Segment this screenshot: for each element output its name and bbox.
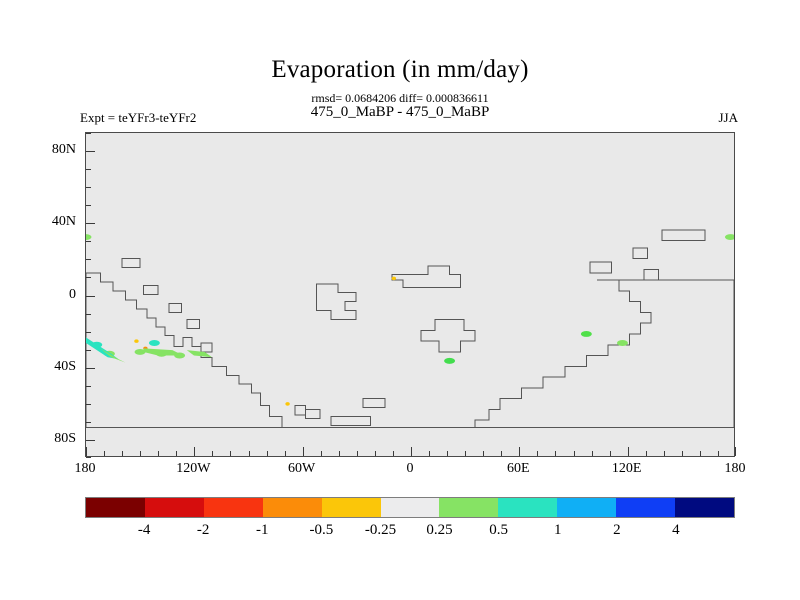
- x-axis-minor-tick: [357, 451, 358, 456]
- y-axis-major-tick: [86, 223, 95, 224]
- colorbar-tick-label: -2: [197, 522, 210, 539]
- y-axis-major-tick: [86, 296, 95, 297]
- x-axis-minor-tick: [249, 451, 250, 456]
- x-axis-major-tick: [519, 447, 520, 456]
- colorbar-segment: [322, 498, 381, 517]
- colorbar-tick-label: -4: [138, 522, 151, 539]
- coastline-outline: [331, 417, 371, 426]
- x-axis-minor-tick: [285, 451, 286, 456]
- x-axis-major-tick: [86, 447, 87, 456]
- y-axis-minor-tick: [86, 386, 91, 387]
- y-axis-major-tick: [86, 368, 95, 369]
- map-plot-area: [85, 132, 735, 457]
- x-axis-minor-tick: [267, 451, 268, 456]
- x-axis-minor-tick: [321, 451, 322, 456]
- y-axis-major-tick: [86, 440, 95, 441]
- x-axis-tick-label: 180: [725, 461, 746, 477]
- x-axis-minor-tick: [140, 451, 141, 456]
- colorbar-segment: [557, 498, 616, 517]
- anomaly-patch: [134, 339, 138, 343]
- coastline-outline: [169, 303, 182, 312]
- y-axis-minor-tick: [86, 314, 91, 315]
- colorbar-tick-label: 2: [613, 522, 621, 539]
- colorbar: [85, 497, 735, 518]
- y-axis-minor-tick: [86, 422, 91, 423]
- y-axis-minor-tick: [86, 169, 91, 170]
- anomaly-streak: [144, 348, 184, 355]
- x-axis-tick-label: 60W: [288, 461, 315, 477]
- x-axis-minor-tick: [718, 451, 719, 456]
- coastline-outline: [633, 248, 647, 259]
- x-axis-minor-tick: [447, 451, 448, 456]
- colorbar-segment: [263, 498, 322, 517]
- y-axis-tick-label: 80S: [30, 431, 76, 447]
- x-axis-minor-tick: [104, 451, 105, 456]
- colorbar-segments: [85, 497, 735, 518]
- y-axis-major-tick: [86, 151, 95, 152]
- y-axis-minor-tick: [86, 457, 91, 458]
- x-axis-minor-tick: [501, 451, 502, 456]
- anomaly-patch: [725, 234, 734, 240]
- x-axis-minor-tick: [592, 451, 593, 456]
- y-axis-tick-label: 80N: [30, 142, 76, 158]
- colorbar-tick-label: 4: [672, 522, 680, 539]
- coastline-outline: [187, 320, 200, 329]
- coastline-outline: [392, 266, 460, 288]
- x-axis-tick-label: 60E: [507, 461, 530, 477]
- anomaly-streak: [86, 338, 118, 360]
- x-axis-minor-tick: [537, 451, 538, 456]
- colorbar-tick-label: -1: [256, 522, 269, 539]
- x-axis-minor-tick: [646, 451, 647, 456]
- x-axis-minor-tick: [212, 451, 213, 456]
- colorbar-tick-label: 0.5: [489, 522, 508, 539]
- coastline-outline: [201, 343, 212, 352]
- colorbar-segment: [381, 498, 440, 517]
- x-axis-tick-label: 120E: [612, 461, 642, 477]
- colorbar-tick-label: 1: [554, 522, 562, 539]
- world-map-coastlines: [86, 133, 734, 456]
- x-axis-minor-tick: [700, 451, 701, 456]
- coastline-outline: [86, 273, 282, 427]
- y-axis-minor-tick: [86, 241, 91, 242]
- x-axis-minor-tick: [664, 451, 665, 456]
- y-axis-minor-tick: [86, 205, 91, 206]
- y-axis-minor-tick: [86, 404, 91, 405]
- experiment-label: Expt = teYFr3-teYFr2: [80, 110, 196, 125]
- y-axis-minor-tick: [86, 277, 91, 278]
- coastline-outline: [662, 230, 705, 241]
- x-axis-minor-tick: [122, 451, 123, 456]
- anomaly-patch: [392, 277, 396, 281]
- x-axis-tick-label: 0: [407, 461, 414, 477]
- x-axis-major-tick: [303, 447, 304, 456]
- x-axis-major-tick: [194, 447, 195, 456]
- coastline-outline: [306, 409, 320, 418]
- y-axis-minor-tick: [86, 187, 91, 188]
- y-axis-tick-label: 0: [30, 287, 76, 303]
- statistics-annotation: rmsd= 0.0684206 diff= 0.000836611: [0, 91, 800, 105]
- coastline-outline: [122, 259, 140, 268]
- anomaly-patch: [86, 234, 91, 240]
- coastline-outline: [295, 406, 306, 415]
- x-axis-minor-tick: [339, 451, 340, 456]
- x-axis-tick-label: 120W: [176, 461, 210, 477]
- x-axis-major-tick: [735, 447, 736, 456]
- y-axis-minor-tick: [86, 133, 91, 134]
- page-title: Evaporation (in mm/day): [0, 55, 800, 85]
- x-axis-minor-tick: [393, 451, 394, 456]
- x-axis-minor-tick: [610, 451, 611, 456]
- x-axis-minor-tick: [230, 451, 231, 456]
- x-axis-minor-tick: [176, 451, 177, 456]
- colorbar-segment: [439, 498, 498, 517]
- anomaly-patch: [617, 340, 628, 346]
- colorbar-segment: [675, 498, 734, 517]
- x-axis-minor-tick: [555, 451, 556, 456]
- x-axis-minor-tick: [483, 451, 484, 456]
- coastline-outline: [590, 262, 612, 273]
- coastline-outline: [644, 269, 658, 280]
- x-axis-minor-tick: [158, 451, 159, 456]
- x-axis-tick-label: 180: [75, 461, 96, 477]
- x-axis-minor-tick: [429, 451, 430, 456]
- y-axis-tick-label: 40S: [30, 359, 76, 375]
- coastline-outline: [144, 286, 158, 295]
- colorbar-segment: [86, 498, 145, 517]
- colorbar-segment: [616, 498, 675, 517]
- x-axis-minor-tick: [465, 451, 466, 456]
- coastline-outline: [316, 284, 356, 320]
- anomaly-patch: [285, 402, 289, 406]
- anomaly-streak: [187, 350, 212, 357]
- y-axis-minor-tick: [86, 259, 91, 260]
- y-axis-minor-tick: [86, 350, 91, 351]
- anomaly-patch: [581, 331, 592, 337]
- coastline-outline: [363, 399, 385, 408]
- coastline-outline: [421, 320, 475, 352]
- colorbar-tick-label: -0.5: [309, 522, 333, 539]
- colorbar-segment: [145, 498, 204, 517]
- colorbar-tick-label: -0.25: [365, 522, 396, 539]
- colorbar-tick-label: 0.25: [426, 522, 452, 539]
- x-axis-major-tick: [411, 447, 412, 456]
- colorbar-segment: [204, 498, 263, 517]
- anomaly-patch: [149, 340, 160, 346]
- anomaly-patch: [444, 358, 455, 364]
- season-label: JJA: [718, 110, 738, 125]
- x-axis-minor-tick: [682, 451, 683, 456]
- y-axis-tick-label: 40N: [30, 214, 76, 230]
- x-axis-major-tick: [628, 447, 629, 456]
- colorbar-segment: [498, 498, 557, 517]
- y-axis-minor-tick: [86, 332, 91, 333]
- x-axis-minor-tick: [574, 451, 575, 456]
- x-axis-minor-tick: [375, 451, 376, 456]
- coastline-outline: [475, 280, 734, 427]
